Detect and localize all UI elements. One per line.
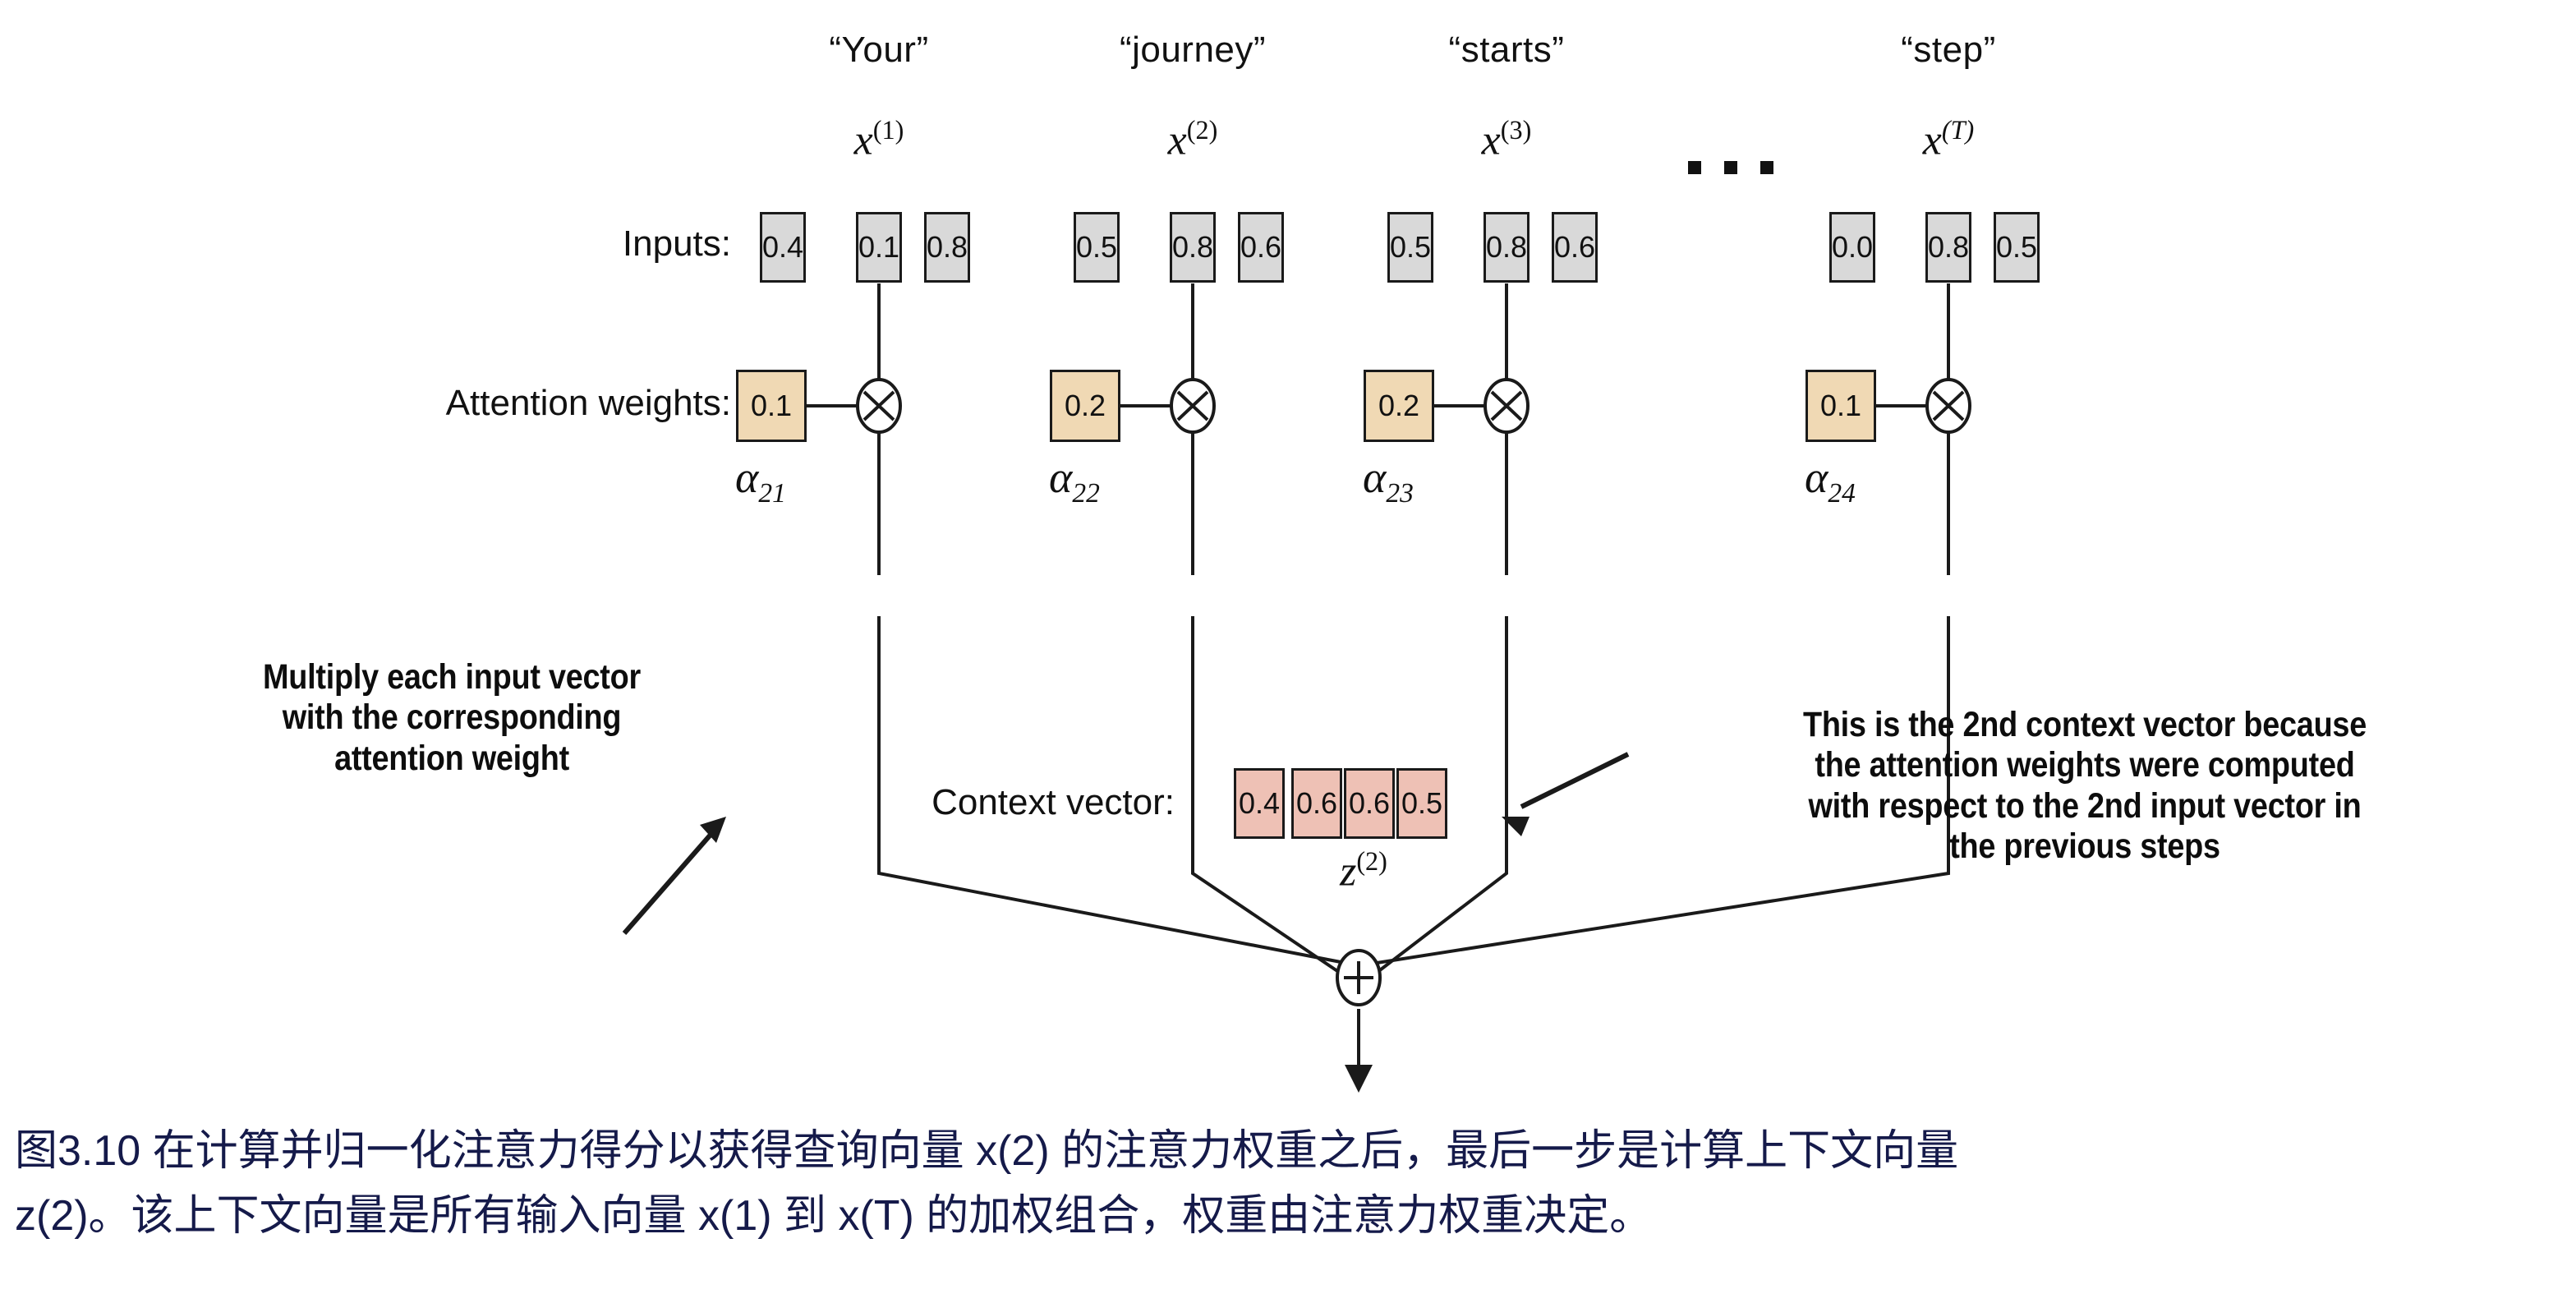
annotation-left-line-3: attention weight (170, 739, 734, 779)
token-word-3: “starts” (1408, 30, 1605, 71)
context-vector-cell: 0.6 (1291, 768, 1342, 839)
multiply-node-3 (1485, 380, 1528, 432)
annotation-left: Multiply each input vector with the corr… (170, 657, 734, 779)
alpha-subscript: 23 (1386, 478, 1413, 509)
var-base: x (854, 117, 873, 163)
caption-line-2: z(2)。该上下文向量是所有输入向量 x(1) 到 x(T) 的加权组合，权重由… (15, 1184, 2568, 1249)
var-base: x (1482, 117, 1501, 163)
input-cell: 0.6 (1552, 212, 1598, 283)
multiply-node-1 (858, 380, 900, 432)
input-var-label-2: x(2) (1094, 115, 1291, 164)
input-cell: 0.5 (1074, 212, 1120, 283)
alpha-base: α (735, 453, 758, 502)
context-vector-cell: 0.4 (1234, 768, 1285, 839)
input-cell: 0.5 (1387, 212, 1433, 283)
connector-lines (0, 0, 2576, 1303)
figure-page: “Your” “journey” “starts” “step” x(1) x(… (0, 0, 2576, 1303)
alpha-label-22: α22 (1049, 452, 1100, 509)
inputs-row-label: Inputs: (427, 223, 731, 265)
input-cell: 0.8 (924, 212, 970, 283)
alpha-base: α (1049, 453, 1072, 502)
context-var-label: z(2) (1265, 846, 1462, 896)
annotation-right-line-2: the attention weights were computed (1680, 745, 2490, 785)
input-cell: 0.4 (760, 212, 806, 283)
input-cell: 0.1 (856, 212, 902, 283)
annotation-right-line-1: This is the 2nd context vector because (1680, 705, 2490, 745)
annotation-right-line-3: with respect to the 2nd input vector in (1680, 786, 2490, 826)
arrow-right-annotation (1502, 754, 1628, 836)
arrow-left-annotation (624, 817, 726, 933)
arrow-sum-to-context (1345, 1009, 1373, 1093)
var-superscript: (3) (1501, 115, 1532, 145)
sum-node (1337, 951, 1380, 1005)
alpha-subscript: 22 (1072, 478, 1099, 509)
var-superscript: (2) (1187, 115, 1218, 145)
alpha-subscript: 21 (758, 478, 785, 509)
var-superscript: (T) (1942, 115, 1974, 145)
alpha-subscript: 24 (1828, 478, 1855, 509)
input-cell: 0.8 (1170, 212, 1216, 283)
var-superscript: (1) (873, 115, 904, 145)
attention-weight-cell: 0.1 (736, 370, 807, 442)
var-base: x (1168, 117, 1187, 163)
context-vector-row-label: Context vector: (789, 782, 1175, 823)
context-vector-cell: 0.6 (1344, 768, 1395, 839)
token-word-1: “Your” (780, 30, 977, 71)
attention-weight-cell: 0.2 (1050, 370, 1120, 442)
var-base: z (1340, 848, 1356, 895)
alpha-label-21: α21 (735, 452, 786, 509)
token-word-2: “journey” (1094, 30, 1291, 71)
input-cell: 0.0 (1829, 212, 1875, 283)
annotation-left-line-1: Multiply each input vector (170, 657, 734, 698)
input-var-label-1: x(1) (780, 115, 977, 164)
var-superscript: (2) (1356, 846, 1387, 876)
input-cell: 0.6 (1238, 212, 1284, 283)
attention-weight-cell: 0.1 (1805, 370, 1876, 442)
figure-caption: 图3.10 在计算并归一化注意力得分以获得查询向量 x(2) 的注意力权重之后，… (15, 1119, 2568, 1249)
multiply-node-4 (1927, 380, 1970, 432)
input-cell: 0.5 (1994, 212, 2040, 283)
alpha-base: α (1805, 453, 1828, 502)
input-cell: 0.8 (1925, 212, 1971, 283)
annotation-right-line-4: the previous steps (1680, 826, 2490, 867)
ellipsis-icon (1688, 161, 1773, 174)
var-base: x (1923, 117, 1942, 163)
caption-line-1: 图3.10 在计算并归一化注意力得分以获得查询向量 x(2) 的注意力权重之后，… (15, 1119, 2568, 1184)
input-var-label-3: x(3) (1408, 115, 1605, 164)
multiply-node-2 (1171, 380, 1214, 432)
annotation-right: This is the 2nd context vector because t… (1680, 705, 2490, 868)
context-vector-cell: 0.5 (1396, 768, 1447, 839)
alpha-label-24: α24 (1805, 452, 1856, 509)
alpha-label-23: α23 (1363, 452, 1414, 509)
attention-weight-cell: 0.2 (1364, 370, 1434, 442)
annotation-left-line-2: with the corresponding (170, 698, 734, 738)
input-var-label-4: x(T) (1850, 115, 2047, 164)
token-word-4: “step” (1850, 30, 2047, 71)
attention-weights-row-label: Attention weights: (246, 383, 731, 424)
input-cell: 0.8 (1483, 212, 1529, 283)
alpha-base: α (1363, 453, 1386, 502)
